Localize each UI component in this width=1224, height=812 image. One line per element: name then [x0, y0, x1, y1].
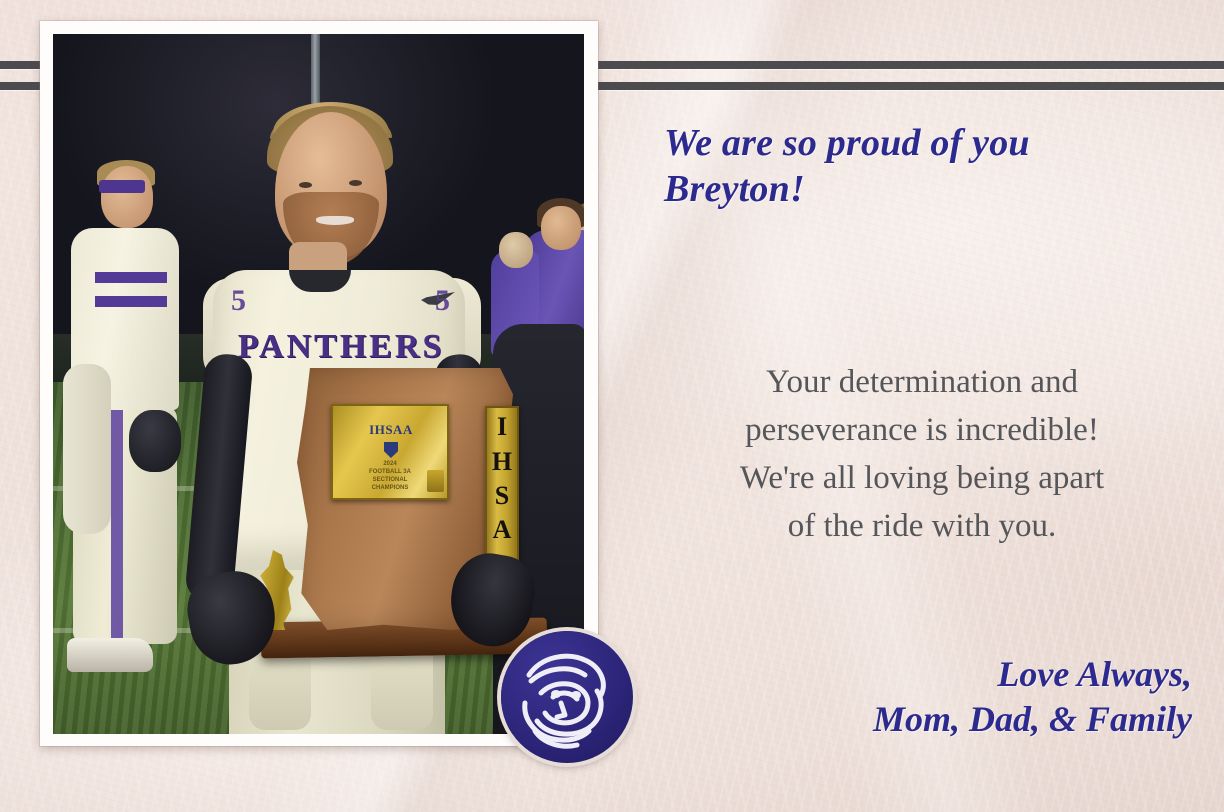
- jersey-number-left: 5: [231, 284, 246, 318]
- message-body: Your determination and perseverance is i…: [648, 358, 1196, 550]
- headline-line-1: We are so proud of you: [664, 120, 1184, 166]
- signoff: Love Always, Mom, Dad, & Family: [664, 652, 1192, 742]
- ihsaa-letter: I: [497, 414, 507, 440]
- panther-mascot-badge: [501, 631, 633, 763]
- ihsaa-letter: H: [492, 449, 512, 475]
- signoff-line-2: Mom, Dad, & Family: [664, 697, 1192, 742]
- headline-line-2: Breyton!: [664, 166, 1184, 212]
- football-player-photo: 5 5 PANTHERS IHSAA 2024 FOOTBALL 3A SECT…: [53, 34, 584, 734]
- plaque-seal-emblem: [427, 470, 444, 492]
- plaque-engraving-line: 2024: [337, 460, 443, 468]
- body-line-3: We're all loving being apart: [648, 454, 1196, 502]
- teammate-shoe: [67, 638, 153, 672]
- teammate-head: [101, 166, 153, 228]
- spectator-head: [499, 232, 533, 268]
- teammate-arm: [63, 364, 111, 534]
- teammate-sleeve-stripe: [95, 272, 167, 283]
- headline: We are so proud of you Breyton!: [664, 120, 1184, 212]
- teammate-sleeve-stripe: [95, 296, 167, 307]
- body-line-1: Your determination and: [648, 358, 1196, 406]
- teammate-pant-stripe: [111, 406, 123, 642]
- teammate-headband: [99, 180, 145, 193]
- jersey-number-right: 5: [435, 284, 450, 318]
- spectator-head: [541, 206, 581, 250]
- ihsaa-letter: S: [495, 483, 509, 509]
- player-mouth: [316, 216, 354, 225]
- player-eye: [299, 182, 312, 188]
- teammate-glove: [129, 410, 181, 472]
- greeting-ad-page: 5 5 PANTHERS IHSAA 2024 FOOTBALL 3A SECT…: [0, 0, 1224, 812]
- jersey-team-name: PANTHERS: [231, 328, 451, 366]
- signoff-line-1: Love Always,: [664, 652, 1192, 697]
- body-line-2: perseverance is incredible!: [648, 406, 1196, 454]
- body-line-4: of the ride with you.: [648, 502, 1196, 550]
- ihsaa-letter: A: [493, 517, 512, 543]
- ihsaa-logo-text: IHSAA: [369, 422, 413, 444]
- player-eye: [349, 180, 362, 186]
